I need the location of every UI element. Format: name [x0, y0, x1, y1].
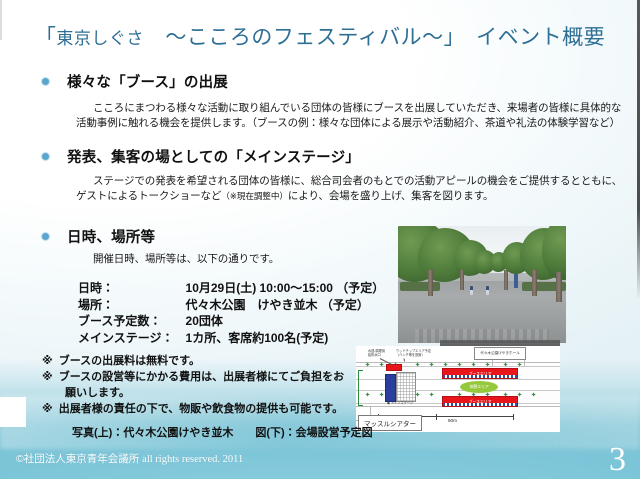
detail-value: 10月29日(土) 10:00～15:00 （予定） [186, 280, 385, 297]
event-details-table: 日時： 10月29日(土) 10:00～15:00 （予定） 場所： 代々木公園… [78, 280, 384, 346]
bullet-dot-icon [42, 153, 49, 160]
section-body-mainstage: ステージでの発表を希望される団体の皆様に、総合司会者のもとでの活動アピールの機会… [76, 174, 628, 203]
map-booth-area-upper: ブースエリア [442, 368, 518, 379]
map-tree-icon: ✦ [530, 392, 537, 399]
section-body-line2b: により、会場を盛り上げ、集客を図ります。 [288, 190, 494, 202]
detail-value: 20団体 [186, 313, 385, 330]
table-row: 日時： 10月29日(土) 10:00～15:00 （予定） [78, 280, 384, 297]
title-suffix-part: イベント概要 [455, 26, 606, 49]
note-marker: ※ [42, 353, 53, 369]
map-scale-tick [513, 414, 514, 420]
note-marker: ※ [42, 369, 53, 385]
footer-copyright: ©社団法人東京青年会議所 all rights reserved. 2011 [16, 451, 243, 466]
table-row: 場所： 代々木公園 けやき並木 （予定） [78, 297, 384, 314]
map-note-stage: ▣ メインステージ [387, 402, 413, 406]
notes-list: ※ ブースの出展料は無料です。 ※ ブースの設営等にかかる費用は、出展者様にてご… [42, 353, 344, 417]
caption-map-text: 会場設営予定図 [296, 427, 373, 439]
table-row: メインステージ： 1カ所、客席約100名(予定) [78, 330, 384, 347]
copyright-en: all rights reserved. 2011 [142, 454, 243, 465]
caption-map-label: 図(下)： [255, 427, 295, 439]
figure-caption: 写真(上)：代々木公園けやき並木図(下)：会場設営予定図 [72, 424, 373, 440]
map-scale-tick [436, 414, 437, 420]
section-body-line2a: ゲストによるトークショーなど [76, 190, 221, 202]
note-text: ブースの設営等にかかる費用は、出展者様にてご負担をお [59, 369, 344, 385]
note-item: ※ ブースの設営等にかかる費用は、出展者様にてご負担をお [42, 369, 344, 385]
section-body-line2: 活動事例に触れる機会を提供します。（ブースの例：様々な団体による展示や活動紹介、… [76, 117, 620, 129]
section-heading-label: 日時、場所等 [67, 226, 155, 247]
map-note-woodchip: ウッドチップエリア予定（ベンチ等を設置） [396, 350, 431, 358]
section-body-line1: 開催日時、場所等は、以下の通りです。 [93, 253, 279, 265]
left-corner-notch [0, 397, 26, 427]
venue-photo [398, 226, 566, 343]
section-heading-label: 発表、集客の場としての「メインステージ」 [67, 146, 360, 167]
note-text-continued: 願いします。 [42, 385, 344, 401]
copyright-jp: ©社団法人東京青年会議所 [16, 453, 139, 465]
photo-trunk [504, 270, 508, 290]
photo-person [486, 286, 489, 295]
map-woodchip-area [396, 372, 416, 402]
note-item: ※ 出展者様の責任の下で、物販や飲食物の提供も可能です。 [42, 401, 344, 417]
bullet-dot-icon [42, 78, 49, 85]
map-tree-icon: ✦ [364, 362, 371, 369]
section-body-line1: こころにまつわる様々な活動に取り組んでいる団体の皆様にブースを出展していただき、… [93, 102, 621, 114]
caption-photo-label: 写真(上)： [72, 427, 123, 439]
map-tree-icon: ✦ [428, 362, 435, 369]
map-utility-marker [386, 364, 402, 371]
detail-value: 1カ所、客席約100名(予定) [186, 330, 385, 347]
photo-trunk [428, 270, 433, 296]
map-tree-icon: ✦ [378, 362, 385, 369]
section-body-line1: ステージでの発表を希望される団体の皆様に、総合司会者のもとでの活動アピールの機会… [93, 175, 622, 187]
section-heading-datetime: 日時、場所等 [42, 226, 155, 247]
photo-trunk [532, 270, 537, 296]
page-number: 3 [609, 443, 626, 477]
page-title: 「東京しぐさ ～こころのフェスティバル～」 イベント概要 [0, 21, 640, 51]
section-heading-mainstage: 発表、集客の場としての「メインステージ」 [42, 146, 360, 167]
bullet-dot-icon [42, 233, 49, 240]
note-item: ※ ブースの出展料は無料です。 [42, 353, 344, 369]
map-green-bracket [358, 370, 363, 406]
detail-key: メインステージ： [78, 330, 186, 347]
section-body-line2-note: （※現在調整中） [221, 191, 288, 201]
table-row: ブース予定数： 20団体 [78, 313, 384, 330]
map-leader-line [404, 358, 406, 361]
title-open-bracket: 「 [35, 26, 57, 49]
section-body-datetime: 開催日時、場所等は、以下の通りです。 [76, 252, 279, 267]
photo-hedge [400, 282, 440, 291]
detail-key: 場所： [78, 297, 186, 314]
map-tree-icon: ✦ [364, 392, 371, 399]
slide-root: 「東京しぐさ ～こころのフェスティバル～」 イベント概要 様々な「ブース」の出展… [0, 0, 640, 479]
detail-value: 代々木公園 けやき並木 （予定） [186, 297, 385, 314]
photo-person [470, 286, 473, 295]
photo-image [398, 226, 566, 343]
caption-photo-text: 代々木公園けやき並木 [123, 427, 233, 439]
detail-key: ブース予定数： [78, 313, 186, 330]
section-heading-booth: 様々な「ブース」の出展 [42, 71, 228, 92]
map-tree-icon: ✦ [414, 362, 421, 369]
map-note-utility: 水道・調理用給排水口 [368, 350, 385, 358]
detail-key: 日時： [78, 280, 186, 297]
photo-trunk [460, 270, 464, 290]
note-marker: ※ [42, 401, 53, 417]
map-scale-label-right: 50m [448, 418, 457, 423]
map-rest-area: 休憩エリア [460, 381, 498, 393]
map-tree-icon: ✦ [378, 392, 385, 399]
map-tree-icon: ✦ [428, 392, 435, 399]
map-booth-area-lower: ブースエリア [442, 396, 518, 407]
photo-trunk [556, 272, 562, 302]
section-heading-label: 様々な「ブース」の出展 [67, 71, 228, 92]
section-body-booth: こころにまつわる様々な活動に取り組んでいる団体の皆様にブースを出展していただき、… [76, 101, 628, 130]
photo-banner [514, 274, 518, 288]
note-text: ブースの出展料は無料です。 [59, 353, 200, 369]
title-main-part: ～こころのフェスティバル～」 [144, 26, 455, 49]
title-small-part: 東京しぐさ [56, 29, 144, 48]
note-text: 出展者様の責任の下で、物販や飲食物の提供も可能です。 [59, 401, 343, 417]
map-main-stage [385, 374, 396, 402]
map-hall-label: 代々木公園けやきホール [474, 347, 526, 360]
